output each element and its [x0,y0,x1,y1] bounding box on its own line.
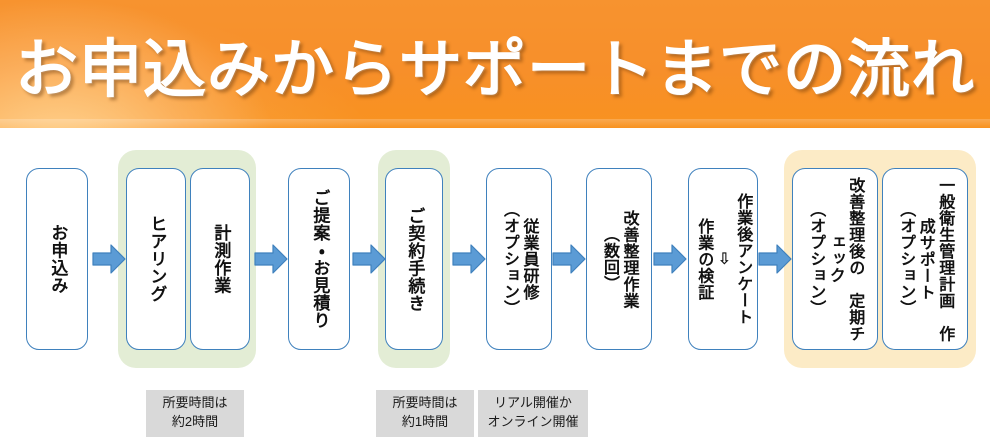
caption-hearing: 所要時間は 約2時間 [146,390,244,437]
arrow-right-icon-7 [758,242,792,276]
step-box-proposal-estimate[interactable]: ご提案・お見積り [288,168,350,350]
arrow-right-icon-3 [352,242,386,276]
arrow-right-icon-6 [653,242,687,276]
arrow-right-icon-1 [92,242,126,276]
header-banner: お申込みからサポートまでの流れ [0,0,990,128]
caption-contract: 所要時間は 約1時間 [376,390,474,437]
step-label-periodic-check: 改善整理後の 定期チェック （オプション） [806,169,865,349]
step-box-application[interactable]: お申込み [26,168,88,350]
arrow-right-icon-5 [552,242,586,276]
step-box-periodic-check[interactable]: 改善整理後の 定期チェック （オプション） [792,168,878,350]
step-label-hygiene-support: 一般衛生管理計画 作成サポート （オプション） [896,169,955,349]
flow-diagram-page: お申込みからサポートまでの流れ お申込み ヒアリング 計測作業 ご提案・お見積り… [0,0,990,443]
caption-training: リアル開催か オンライン開催 [478,390,588,437]
step-label-employee-training: 従業員研修 （オプション） [499,201,538,317]
step-box-improvement-work[interactable]: 改善整理作業 （数回） [586,168,652,350]
banner-sheen [0,119,990,128]
arrow-right-icon-2 [254,242,288,276]
step-label-post-survey: 作業後アンケート ⇩ 作業の検証 [694,193,753,325]
step-box-employee-training[interactable]: 従業員研修 （オプション） [486,168,552,350]
step-box-post-survey[interactable]: 作業後アンケート ⇩ 作業の検証 [688,168,758,350]
step-box-contract[interactable]: ご契約手続き [385,168,443,350]
step-label-contract: ご契約手続き [404,207,425,312]
step-label-proposal-estimate: ご提案・お見積り [309,189,330,329]
step-label-hearing: ヒアリング [146,215,167,303]
arrow-right-icon-4 [452,242,486,276]
step-box-measurement[interactable]: 計測作業 [190,168,250,350]
step-label-improvement-work: 改善整理作業 （数回） [599,210,638,309]
flow-area: お申込み ヒアリング 計測作業 ご提案・お見積り ご契約手続き 従業員研修 （オ… [0,128,990,443]
step-label-application: お申込み [47,224,68,294]
step-label-measurement: 計測作業 [210,224,231,294]
step-box-hearing[interactable]: ヒアリング [126,168,186,350]
page-title: お申込みからサポートまでの流れ [0,0,990,128]
step-box-hygiene-support[interactable]: 一般衛生管理計画 作成サポート （オプション） [882,168,968,350]
